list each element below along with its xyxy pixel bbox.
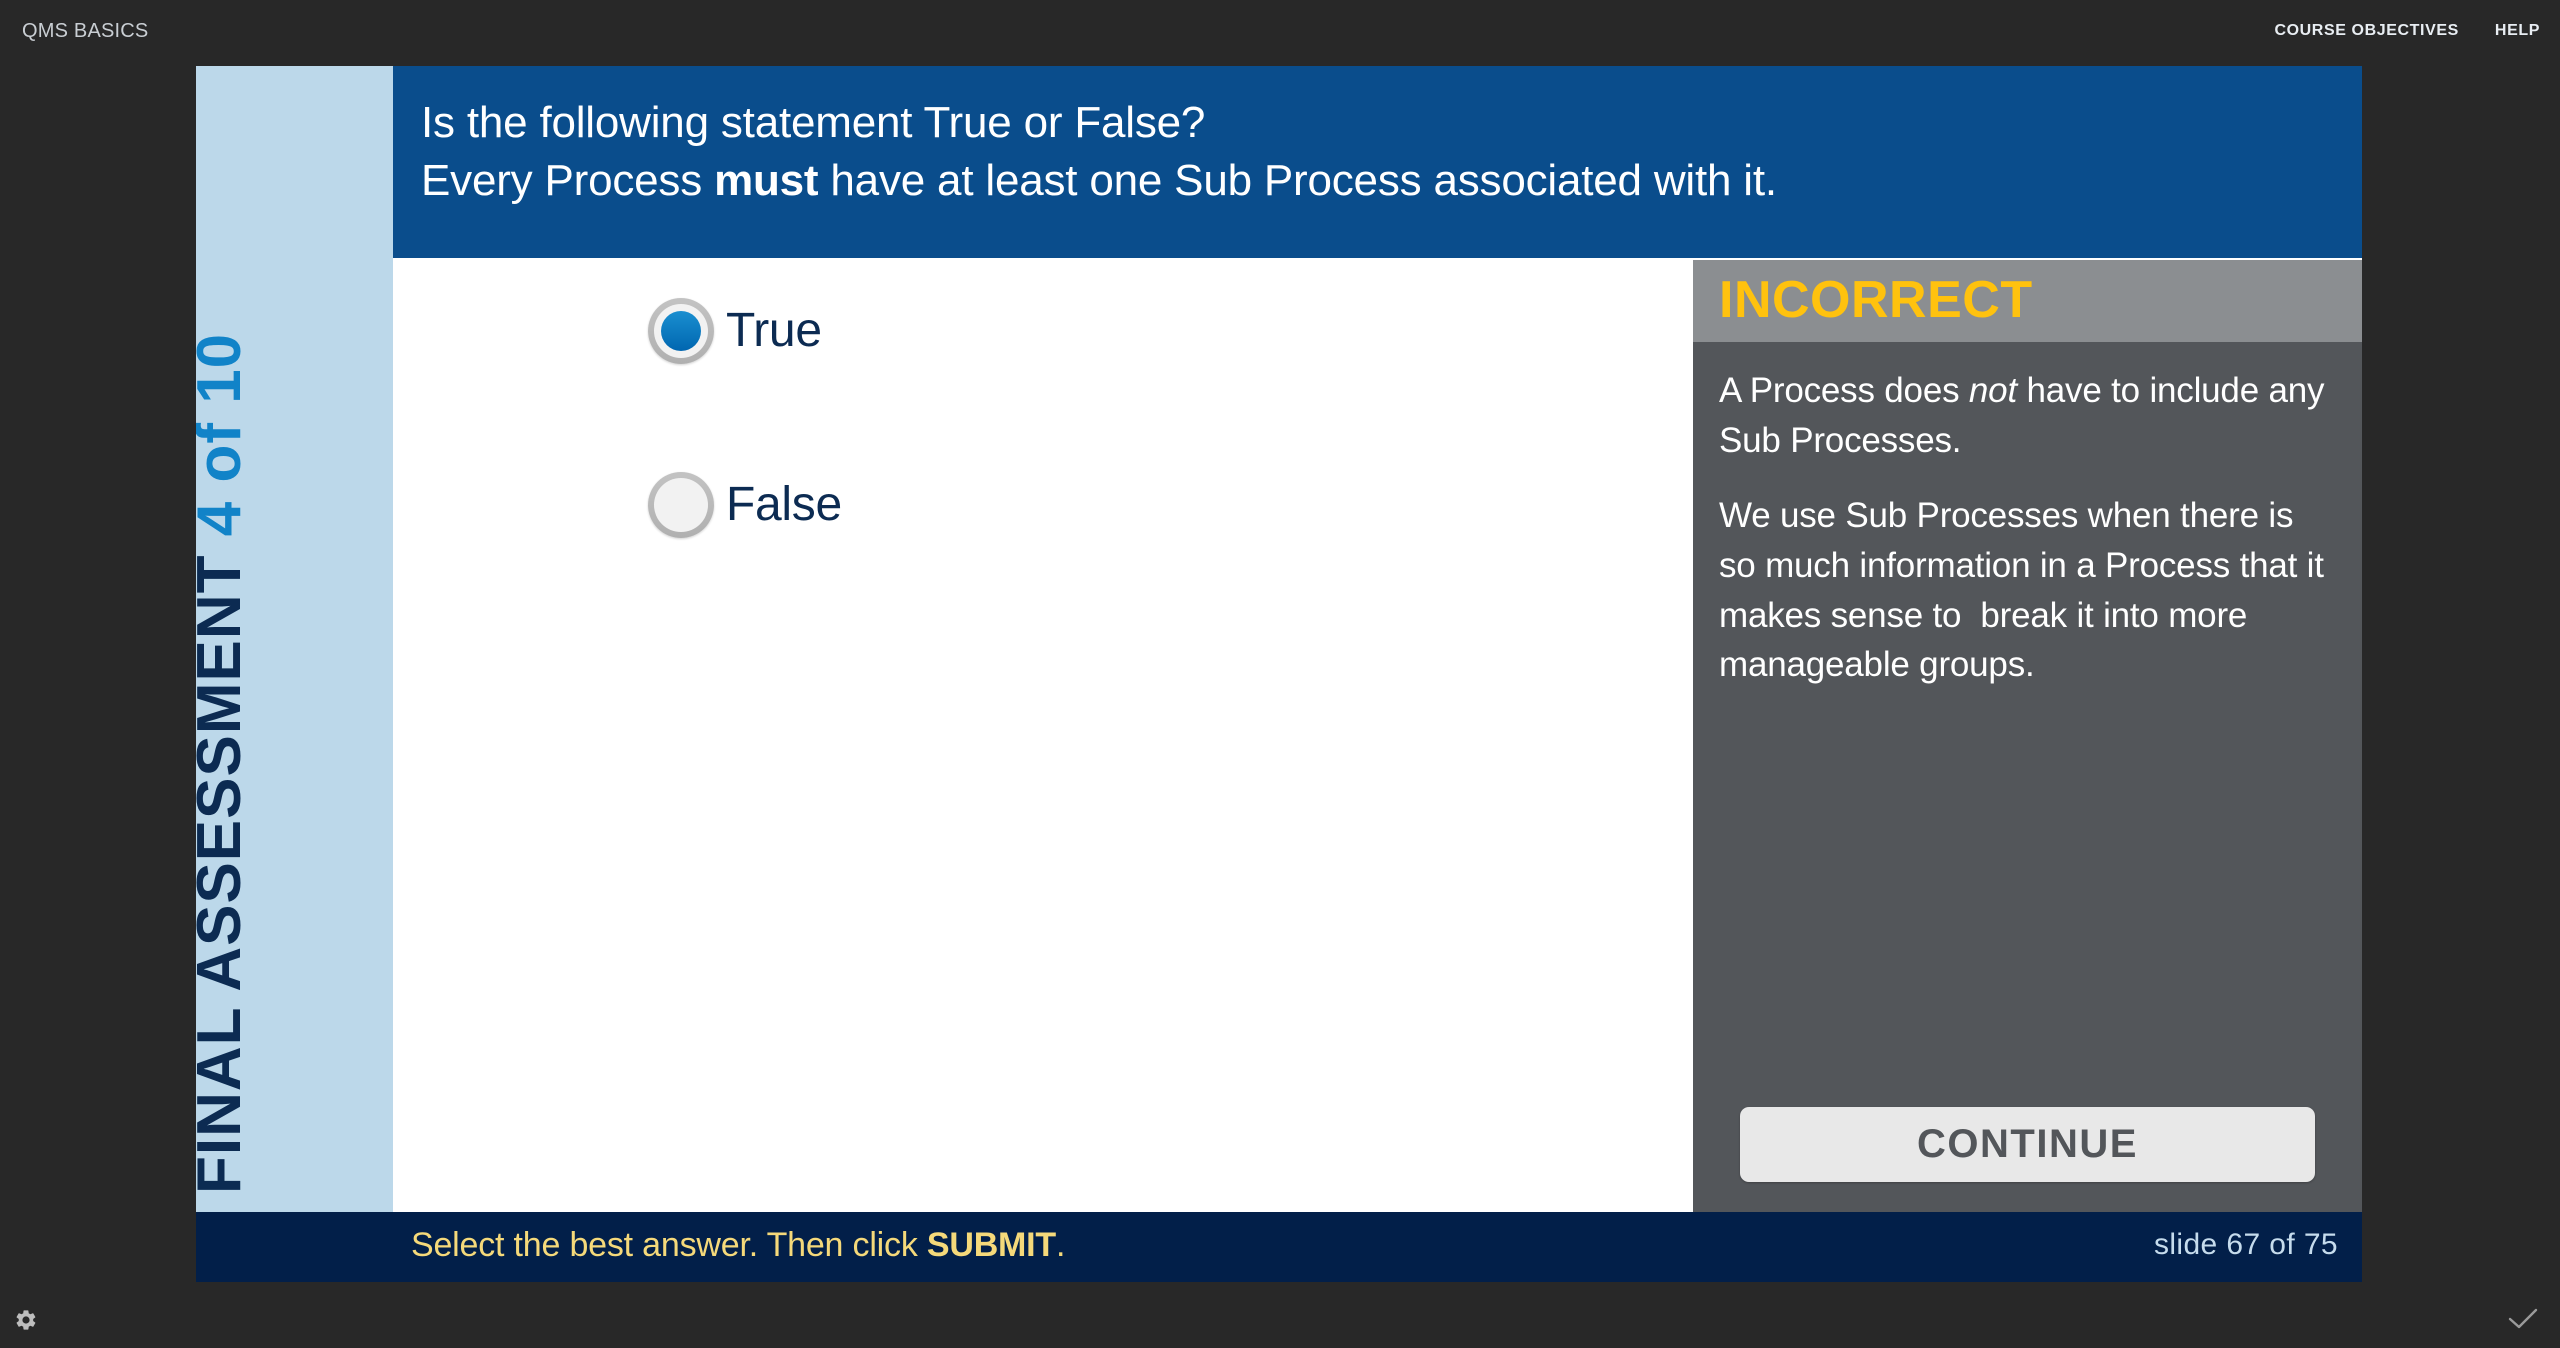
- continue-button-container: CONTINUE: [1693, 1107, 2362, 1182]
- top-navigation: COURSE OBJECTIVES HELP: [2274, 22, 2540, 40]
- slide-counter: slide 67 of 75: [2154, 1228, 2338, 1262]
- footer-instruction-submit: SUBMIT: [927, 1226, 1056, 1264]
- radio-button-true[interactable]: [648, 298, 714, 364]
- settings-gear-icon[interactable]: [14, 1308, 38, 1332]
- feedback-p1-pre: A Process does: [1719, 371, 1969, 410]
- slide-stage: FINAL ASSESSMENT 4 of 10 Is the followin…: [196, 66, 2362, 1282]
- feedback-p1-emphasis-not: not: [1969, 371, 2017, 410]
- feedback-paragraph-2: We use Sub Processes when there is so mu…: [1719, 491, 2336, 690]
- continue-button[interactable]: CONTINUE: [1740, 1107, 2315, 1182]
- course-title: QMS BASICS: [22, 20, 148, 43]
- feedback-header: INCORRECT: [1693, 260, 2362, 342]
- footer-instruction: Select the best answer. Then click SUBMI…: [411, 1226, 1065, 1265]
- nav-link-help[interactable]: HELP: [2495, 22, 2540, 40]
- question-line-2: Every Process must have at least one Sub…: [421, 152, 2322, 210]
- answer-choice-false[interactable]: False: [648, 472, 1068, 538]
- answer-label-false: False: [726, 481, 842, 529]
- question-line-2-pre: Every Process: [421, 156, 714, 205]
- nav-link-course-objectives[interactable]: COURSE OBJECTIVES: [2274, 22, 2458, 40]
- assessment-rail-title: FINAL ASSESSMENT: [196, 554, 254, 1194]
- answer-choice-true[interactable]: True: [648, 298, 1068, 364]
- footer-instruction-pre: Select the best answer. Then click: [411, 1226, 927, 1264]
- feedback-body: A Process does not have to include any S…: [1693, 342, 2362, 690]
- question-emphasis-must: must: [714, 156, 818, 205]
- assessment-rail: FINAL ASSESSMENT 4 of 10: [196, 66, 393, 1212]
- question-header: Is the following statement True or False…: [393, 66, 2362, 258]
- question-line-2-post: have at least one Sub Process associated…: [818, 156, 1777, 205]
- feedback-paragraph-1: A Process does not have to include any S…: [1719, 366, 2336, 465]
- top-chrome-bar: QMS BASICS COURSE OBJECTIVES HELP: [0, 0, 2560, 66]
- feedback-status-title: INCORRECT: [1719, 268, 2362, 333]
- footer-instruction-post: .: [1056, 1226, 1065, 1264]
- radio-button-false[interactable]: [648, 472, 714, 538]
- assessment-rail-counter: 4 of 10: [196, 333, 254, 536]
- assessment-rail-text: FINAL ASSESSMENT 4 of 10: [196, 333, 251, 1194]
- question-line-1: Is the following statement True or False…: [421, 94, 2322, 152]
- checkmark-icon[interactable]: [2508, 1308, 2538, 1330]
- answer-label-true: True: [726, 307, 822, 355]
- slide-footer-bar: Select the best answer. Then click SUBMI…: [196, 1212, 2362, 1282]
- feedback-panel: INCORRECT A Process does not have to inc…: [1693, 260, 2362, 1212]
- answer-choice-list: True False: [393, 260, 1693, 1212]
- course-player: QMS BASICS COURSE OBJECTIVES HELP FINAL …: [0, 0, 2560, 1348]
